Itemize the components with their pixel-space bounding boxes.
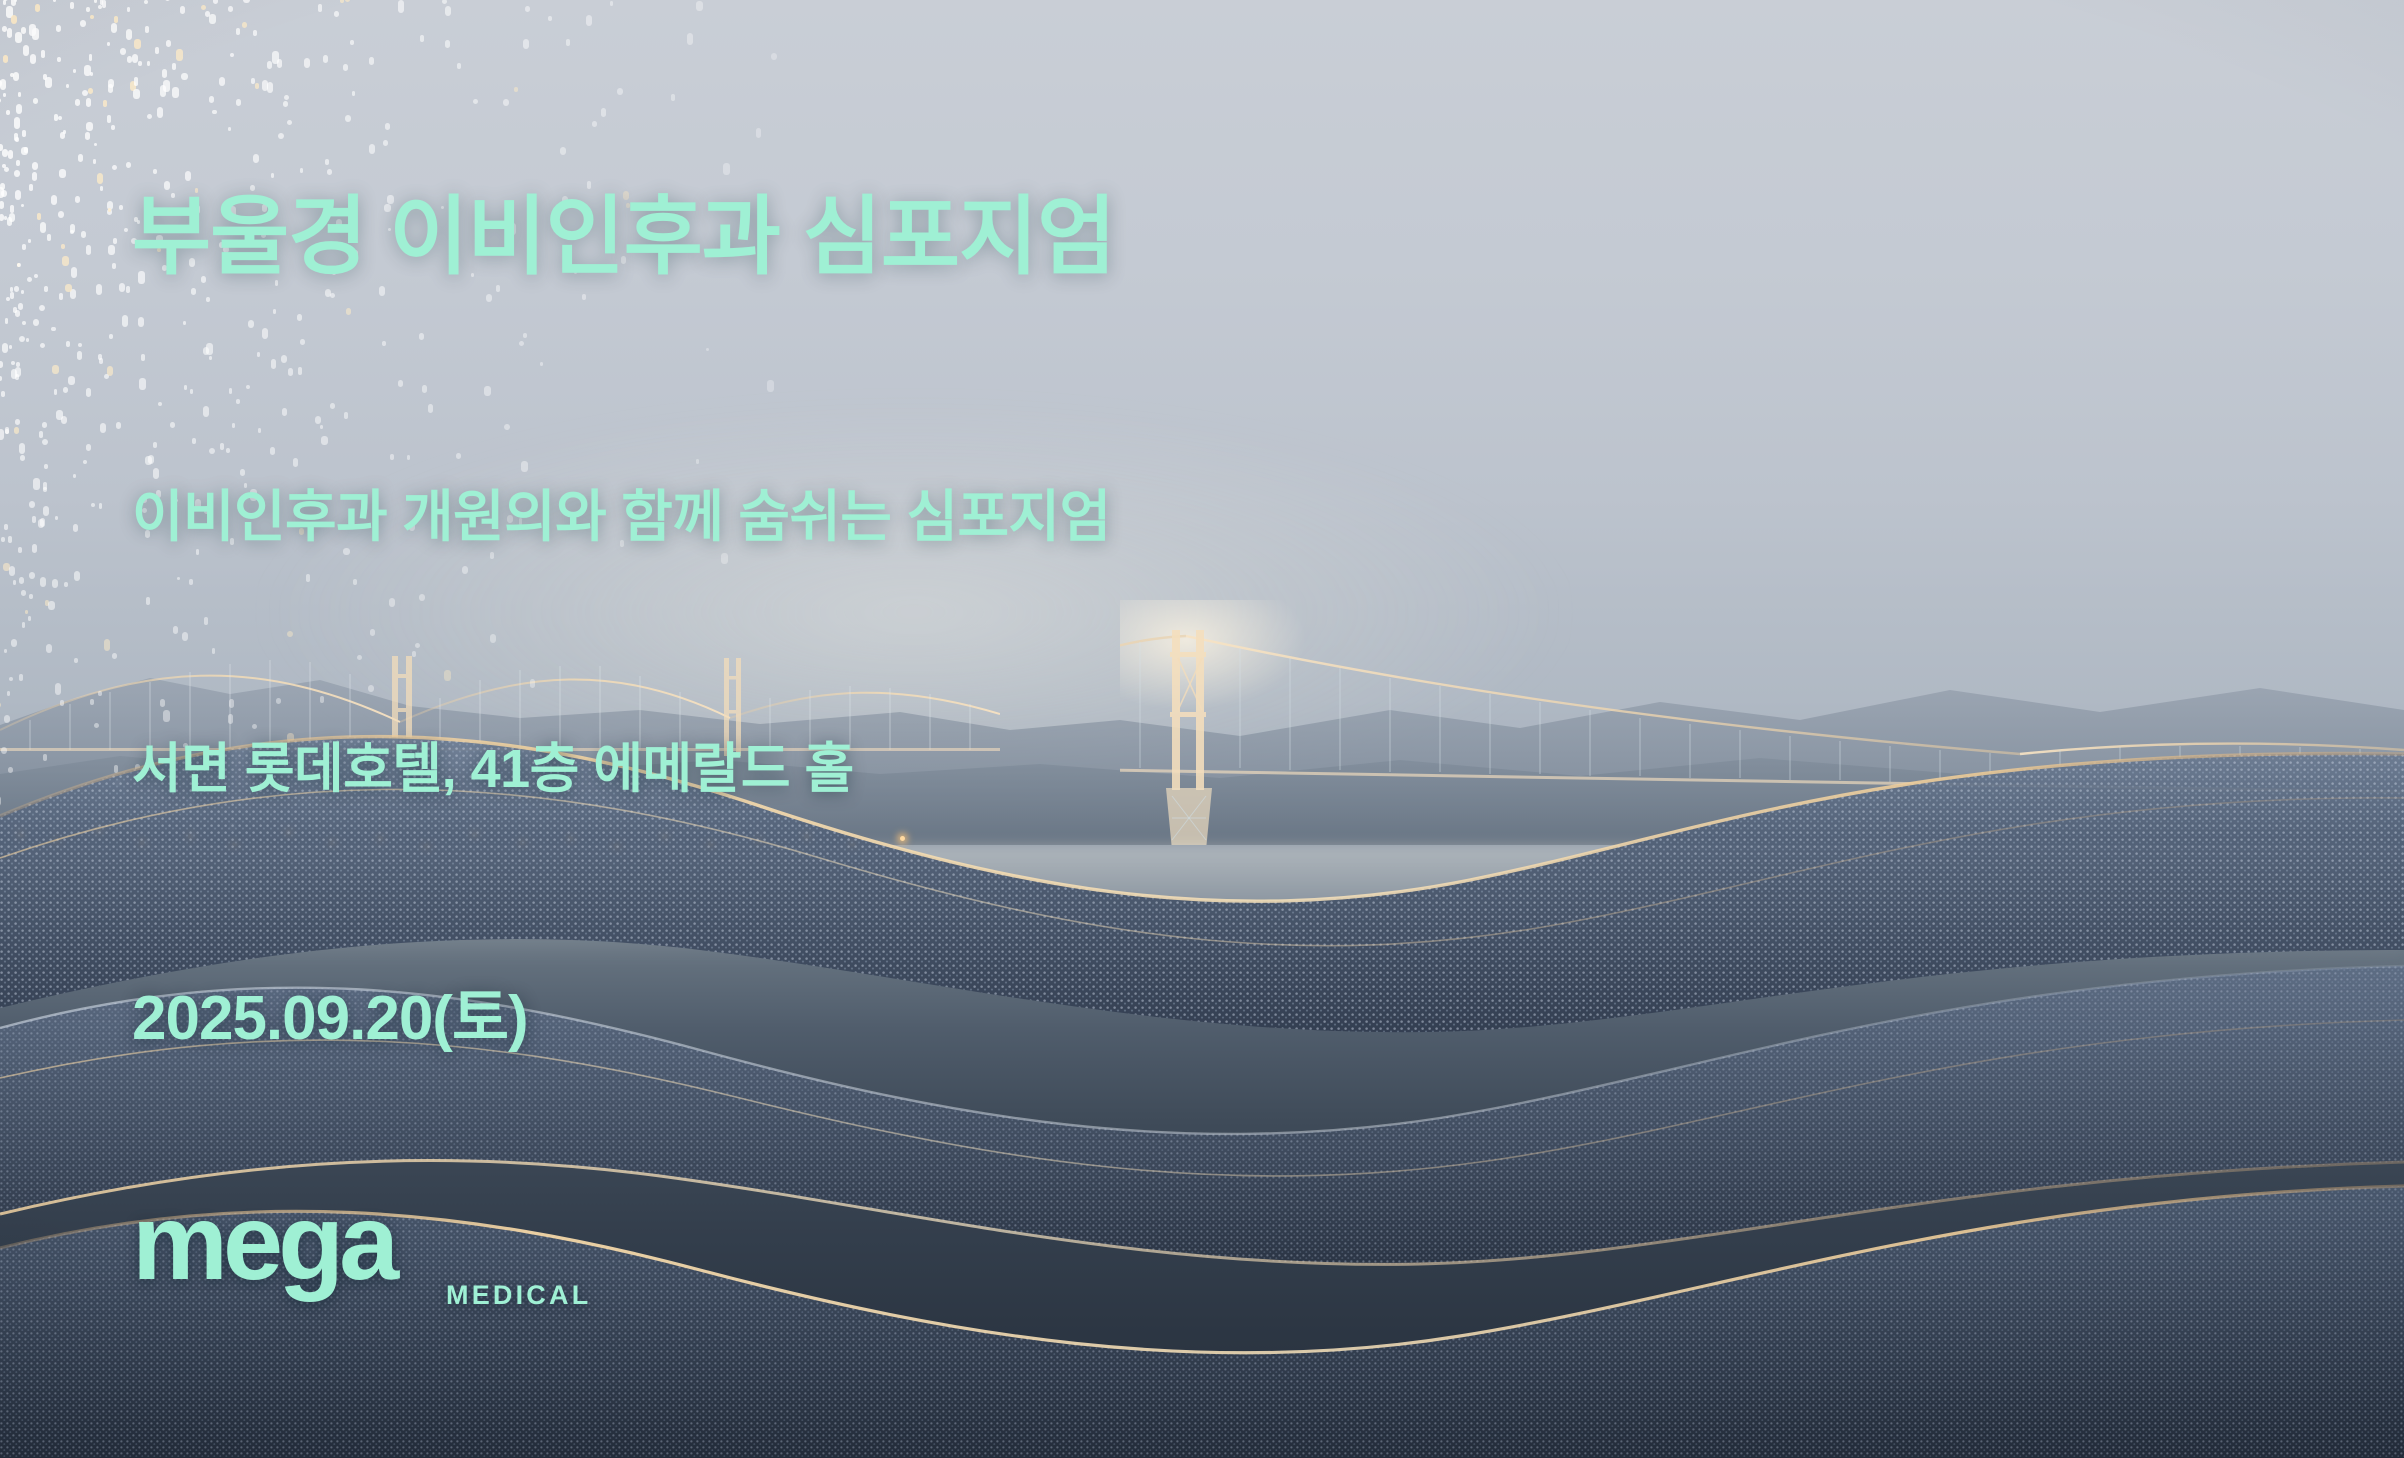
logo-tagline: MEDICAL bbox=[446, 1280, 591, 1311]
poster-venue: 서면 롯데호텔, 41층 에메랄드 홀 bbox=[132, 740, 854, 799]
poster-subtitle: 이비인후과 개원의와 함께 숨쉬는 심포지엄 bbox=[132, 486, 1111, 548]
mega-medical-logo: mega MEDICAL bbox=[132, 1188, 602, 1338]
page-title: 부울경 이비인후과 심포지엄 bbox=[132, 192, 1115, 282]
logo-wordmark: mega bbox=[132, 1188, 394, 1296]
poster-canvas: 부울경 이비인후과 심포지엄 이비인후과 개원의와 함께 숨쉬는 심포지엄 서면… bbox=[0, 0, 2404, 1458]
poster-date: 2025.09.20(토) bbox=[132, 986, 528, 1051]
